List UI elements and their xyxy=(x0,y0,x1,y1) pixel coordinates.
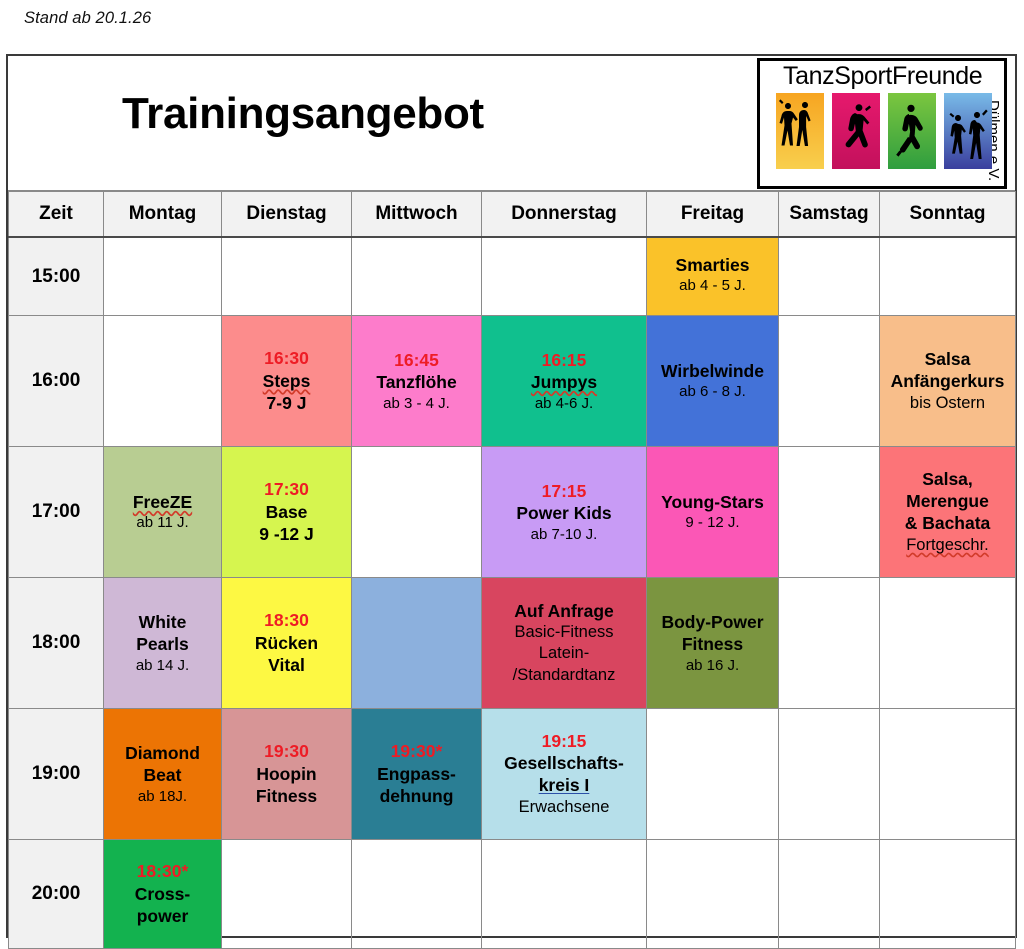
column-header-mittwoch: Mittwoch xyxy=(352,192,482,238)
event-body-power-fitness: Body-Power Fitness ab 16 J. xyxy=(647,578,778,708)
slot-sonntag-1500[interactable] xyxy=(880,237,1016,316)
event-note: Fortgeschr. xyxy=(906,535,989,556)
event-name: Rücken Vital xyxy=(255,632,318,677)
event-name: Engpass- dehnung xyxy=(377,763,456,808)
event-time: 19:30* xyxy=(391,740,443,762)
event-time: 19:15 xyxy=(542,730,587,752)
slot-montag-1900[interactable]: Diamond Beat ab 18J. xyxy=(104,709,222,840)
slot-dienstag-1900[interactable]: 19:30 Hoopin Fitness xyxy=(222,709,352,840)
slot-montag-1700[interactable]: FreeZE ab 11 J. xyxy=(104,447,222,578)
slot-montag-2000[interactable]: 18:30* Cross- power xyxy=(104,840,222,949)
event-salsa-anfaengerkurs: Salsa Anfängerkurs bis Ostern xyxy=(880,316,1015,446)
event-name: Salsa Anfängerkurs xyxy=(891,348,1005,393)
event-name: Power Kids xyxy=(516,502,611,524)
column-header-samstag: Samstag xyxy=(779,192,880,238)
event-power-kids: 17:15 Power Kids ab 7-10 J. xyxy=(482,447,646,577)
slot-samstag-1800[interactable] xyxy=(779,578,880,709)
event-name: Salsa, Merengue & Bachata xyxy=(905,468,991,535)
slot-sonntag-1900[interactable] xyxy=(880,709,1016,840)
table-row: 16:00 16:30 Steps 7-9 J 16:45 Tanzflöhe … xyxy=(9,316,1016,447)
column-header-freitag: Freitag xyxy=(647,192,779,238)
time-label-1500: 15:00 xyxy=(9,237,104,316)
event-steps: 16:30 Steps 7-9 J xyxy=(222,316,351,446)
logo-panel-couple-dancers xyxy=(776,93,824,169)
event-name: Diamond Beat xyxy=(125,742,200,787)
event-note: 9 -12 J xyxy=(259,523,313,545)
column-header-donnerstag: Donnerstag xyxy=(482,192,647,238)
slot-mittwoch-1500[interactable] xyxy=(352,237,482,316)
slot-samstag-1900[interactable] xyxy=(779,709,880,840)
event-age: ab 7-10 J. xyxy=(531,525,598,545)
event-crosspower: 18:30* Cross- power xyxy=(104,840,221,948)
slot-donnerstag-2000[interactable] xyxy=(482,840,647,949)
event-name: Young-Stars xyxy=(661,491,764,513)
event-age: ab 18J. xyxy=(138,787,187,807)
slot-freitag-1900[interactable] xyxy=(647,709,779,840)
event-smarties: Smarties ab 4 - 5 J. xyxy=(647,238,778,315)
event-name: Steps xyxy=(263,370,311,392)
event-base: 17:30 Base 9 -12 J xyxy=(222,447,351,577)
event-name: Cross- power xyxy=(135,883,190,928)
event-time: 18:30* xyxy=(137,860,189,882)
slot-dienstag-1800[interactable]: 18:30 Rücken Vital xyxy=(222,578,352,709)
slot-montag-1600[interactable] xyxy=(104,316,222,447)
event-time: 17:30 xyxy=(264,478,309,500)
event-name: Tanzflöhe xyxy=(376,371,456,393)
time-label-1900: 19:00 xyxy=(9,709,104,840)
slot-freitag-1800[interactable]: Body-Power Fitness ab 16 J. xyxy=(647,578,779,709)
event-jumpys: 16:15 Jumpys ab 4-6 J. xyxy=(482,316,646,446)
event-name-underlined: kreis I xyxy=(539,775,590,795)
event-auf-anfrage: Auf Anfrage Basic-Fitness Latein- /Stand… xyxy=(482,578,646,708)
event-wirbelwinde: Wirbelwinde ab 6 - 8 J. xyxy=(647,316,778,446)
logo-panel-solo-dancer xyxy=(832,93,880,169)
logo-wordmark: TanzSportFreunde xyxy=(780,62,985,91)
event-age: ab 4 - 5 J. xyxy=(679,276,746,296)
event-name: Base xyxy=(266,501,308,523)
time-label-1700: 17:00 xyxy=(9,447,104,578)
event-white-pearls: White Pearls ab 14 J. xyxy=(104,578,221,708)
event-tanzfloehe: 16:45 Tanzflöhe ab 3 - 4 J. xyxy=(352,316,481,446)
event-note: bis Ostern xyxy=(910,393,985,414)
slot-samstag-1700[interactable] xyxy=(779,447,880,578)
event-age: ab 16 J. xyxy=(686,656,739,676)
event-blank-blue xyxy=(352,578,481,708)
event-diamond-beat: Diamond Beat ab 18J. xyxy=(104,709,221,839)
event-time: 19:30 xyxy=(264,740,309,762)
logo-panels xyxy=(776,93,992,169)
slot-donnerstag-1500[interactable] xyxy=(482,237,647,316)
event-hoopin-fitness: 19:30 Hoopin Fitness xyxy=(222,709,351,839)
event-name: Wirbelwinde xyxy=(661,360,764,382)
slot-donnerstag-1700[interactable]: 17:15 Power Kids ab 7-10 J. xyxy=(482,447,647,578)
slot-mittwoch-1800[interactable] xyxy=(352,578,482,709)
event-young-stars: Young-Stars 9 - 12 J. xyxy=(647,447,778,577)
event-time: 17:15 xyxy=(542,480,587,502)
table-row: 19:00 Diamond Beat ab 18J. 19:30 Hoopin … xyxy=(9,709,1016,840)
column-header-zeit: Zeit xyxy=(9,192,104,238)
slot-mittwoch-1900[interactable]: 19:30* Engpass- dehnung xyxy=(352,709,482,840)
table-header-row: Zeit Montag Dienstag Mittwoch Donnerstag… xyxy=(9,192,1016,238)
slot-montag-1500[interactable] xyxy=(104,237,222,316)
slot-mittwoch-1700[interactable] xyxy=(352,447,482,578)
event-salsa-fortgeschrittene: Salsa, Merengue & Bachata Fortgeschr. xyxy=(880,447,1015,577)
event-note: Erwachsene xyxy=(519,797,610,818)
event-time: 16:15 xyxy=(542,349,587,371)
event-note: 7-9 J xyxy=(267,392,307,414)
table-row: 17:00 FreeZE ab 11 J. xyxy=(9,447,1016,578)
table-row: 20:00 18:30* Cross- power xyxy=(9,840,1016,949)
slot-samstag-1500[interactable] xyxy=(779,237,880,316)
event-age: ab 6 - 8 J. xyxy=(679,382,746,402)
logo-panel-runner xyxy=(888,93,936,169)
event-time: 16:45 xyxy=(394,349,439,371)
page-title: Trainingsangebot xyxy=(122,89,484,139)
schedule-grid: Zeit Montag Dienstag Mittwoch Donnerstag… xyxy=(8,191,1016,949)
slot-mittwoch-1600[interactable]: 16:45 Tanzflöhe ab 3 - 4 J. xyxy=(352,316,482,447)
table-row: 15:00 Smarties ab 4 - 5 J. xyxy=(9,237,1016,316)
slot-donnerstag-1900[interactable]: 19:15 Gesellschafts-kreis I Erwachsene xyxy=(482,709,647,840)
slot-freitag-1600[interactable]: Wirbelwinde ab 6 - 8 J. xyxy=(647,316,779,447)
slot-samstag-2000[interactable] xyxy=(779,840,880,949)
time-label-1800: 18:00 xyxy=(9,578,104,709)
slot-sonntag-1700[interactable]: Salsa, Merengue & Bachata Fortgeschr. xyxy=(880,447,1016,578)
event-age: 9 - 12 J. xyxy=(685,513,739,533)
event-name: White Pearls xyxy=(136,611,189,656)
title-band: Trainingsangebot TanzSportFreunde Dülmen… xyxy=(8,56,1015,191)
event-age: ab 11 J. xyxy=(136,513,188,533)
schedule-table-frame: Trainingsangebot TanzSportFreunde Dülmen… xyxy=(6,54,1017,938)
slot-donnerstag-1600[interactable]: 16:15 Jumpys ab 4-6 J. xyxy=(482,316,647,447)
slot-sonntag-1800[interactable] xyxy=(880,578,1016,709)
slot-dienstag-1600[interactable]: 16:30 Steps 7-9 J xyxy=(222,316,352,447)
slot-samstag-1600[interactable] xyxy=(779,316,880,447)
event-gesellschaftskreis: 19:15 Gesellschafts-kreis I Erwachsene xyxy=(482,709,646,839)
event-name: Hoopin Fitness xyxy=(256,763,317,808)
event-time: 16:30 xyxy=(264,347,309,369)
column-header-montag: Montag xyxy=(104,192,222,238)
slot-freitag-1500[interactable]: Smarties ab 4 - 5 J. xyxy=(647,237,779,316)
event-ruecken-vital: 18:30 Rücken Vital xyxy=(222,578,351,708)
event-time: 18:30 xyxy=(264,609,309,631)
slot-freitag-2000[interactable] xyxy=(647,840,779,949)
event-name: Body-Power Fitness xyxy=(661,611,763,656)
event-note: Basic-Fitness Latein- /Standardtanz xyxy=(513,622,616,686)
slot-sonntag-1600[interactable]: Salsa Anfängerkurs bis Ostern xyxy=(880,316,1016,447)
slot-freitag-1700[interactable]: Young-Stars 9 - 12 J. xyxy=(647,447,779,578)
slot-dienstag-1700[interactable]: 17:30 Base 9 -12 J xyxy=(222,447,352,578)
event-name: Gesellschafts-kreis I xyxy=(504,752,624,797)
column-header-sonntag: Sonntag xyxy=(880,192,1016,238)
table-row: 18:00 White Pearls ab 14 J. xyxy=(9,578,1016,709)
time-label-1600: 16:00 xyxy=(9,316,104,447)
slot-mittwoch-2000[interactable] xyxy=(352,840,482,949)
slot-montag-1800[interactable]: White Pearls ab 14 J. xyxy=(104,578,222,709)
event-freeze: FreeZE ab 11 J. xyxy=(104,447,221,577)
event-name: Auf Anfrage xyxy=(514,600,614,622)
event-name: Jumpys xyxy=(531,371,597,393)
event-name: Smarties xyxy=(676,254,750,276)
club-logo: TanzSportFreunde Dülmen e.V. xyxy=(757,58,1007,189)
slot-donnerstag-1800[interactable]: Auf Anfrage Basic-Fitness Latein- /Stand… xyxy=(482,578,647,709)
event-age: ab 3 - 4 J. xyxy=(383,394,450,414)
stand-note: Stand ab 20.1.26 xyxy=(24,9,151,28)
event-age: ab 4-6 J. xyxy=(535,394,593,414)
column-header-dienstag: Dienstag xyxy=(222,192,352,238)
event-engpassdehnung: 19:30* Engpass- dehnung xyxy=(352,709,481,839)
logo-panel-kids-dancers xyxy=(944,93,992,169)
slot-dienstag-1500[interactable] xyxy=(222,237,352,316)
event-name: FreeZE xyxy=(133,491,192,513)
slot-dienstag-2000[interactable] xyxy=(222,840,352,949)
time-label-2000: 20:00 xyxy=(9,840,104,949)
event-age: ab 14 J. xyxy=(136,656,189,676)
slot-sonntag-2000[interactable] xyxy=(880,840,1016,949)
